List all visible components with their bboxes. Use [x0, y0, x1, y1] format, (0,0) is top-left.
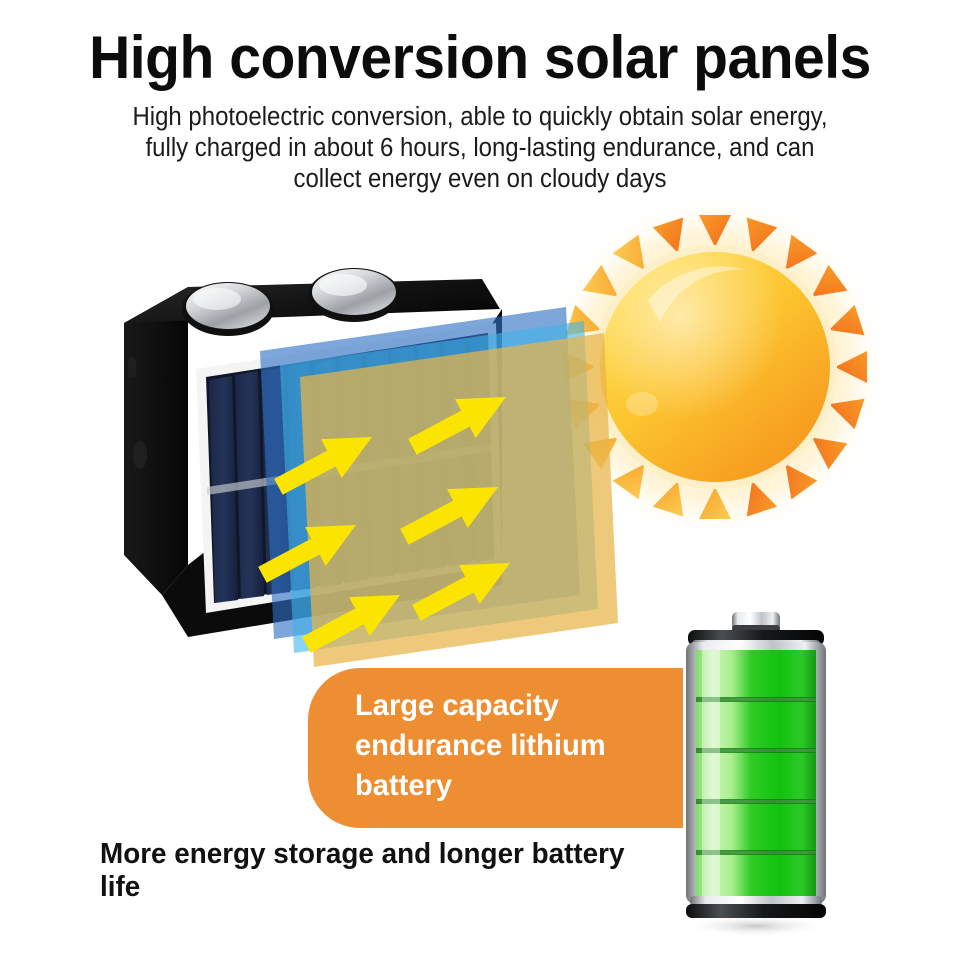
- lamp-housing-side: [124, 287, 188, 595]
- subtitle-line-1: High photoelectric conversion, able to q…: [104, 102, 856, 133]
- battery-base: [686, 904, 826, 918]
- subtitle-line-2: fully charged in about 6 hours, long-las…: [104, 133, 856, 164]
- battery-glass-highlight: [702, 650, 720, 898]
- led-lens-right: [308, 268, 400, 322]
- lamp-side-vent: [133, 441, 147, 469]
- sun-disc-shine: [600, 252, 830, 482]
- subtitle-block: High photoelectric conversion, able to q…: [104, 102, 856, 195]
- solar-lamp-illustration: [110, 265, 630, 685]
- page-title: High conversion solar panels: [24, 26, 936, 89]
- sun-highlight-dot: [626, 392, 658, 416]
- solar-lamp-graphic: [110, 265, 630, 685]
- battery-icon: [672, 612, 840, 937]
- banner-line-1: Large capacity: [355, 686, 665, 726]
- feature-banner-text: Large capacity endurance lithium battery: [355, 686, 665, 806]
- led-lens-left: [182, 282, 274, 336]
- product-feature-graphic: High conversion solar panels High photoe…: [0, 0, 960, 960]
- battery-illustration: [672, 612, 840, 937]
- subtitle-line-3: collect energy even on cloudy days: [104, 164, 856, 195]
- lamp-side-port: [128, 357, 136, 377]
- banner-line-3: battery: [355, 766, 665, 806]
- battery-shadow: [684, 915, 828, 937]
- footnote-caption: More energy storage and longer battery l…: [100, 838, 638, 904]
- feature-banner: Large capacity endurance lithium battery: [308, 668, 683, 828]
- banner-line-2: endurance lithium: [355, 726, 665, 766]
